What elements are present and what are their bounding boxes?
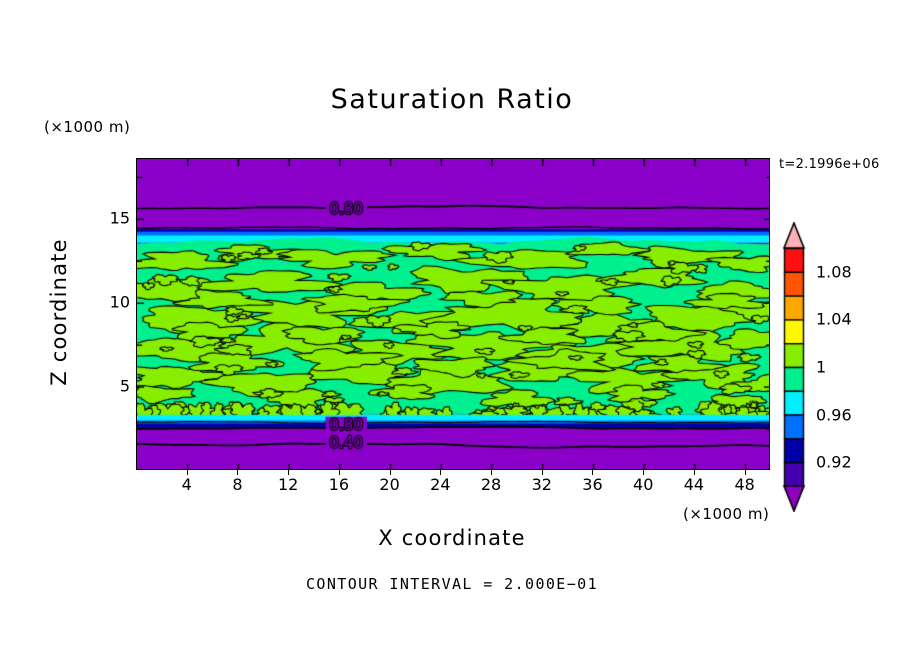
x-tick-mark xyxy=(745,468,746,475)
x-tick-mark xyxy=(491,468,492,475)
y-axis-title: Z coordinate xyxy=(47,232,71,392)
x-tick-mark xyxy=(390,468,391,475)
colorbar-canvas xyxy=(778,222,810,512)
y-tick-label: 5 xyxy=(120,377,130,396)
x-tick-mark xyxy=(187,468,188,475)
x-tick-mark xyxy=(339,468,340,475)
x-tick-label: 8 xyxy=(232,475,242,494)
x-tick-label: 12 xyxy=(278,475,298,494)
y-axis-tick-labels: 51015 xyxy=(70,158,130,470)
x-tick-label: 4 xyxy=(182,475,192,494)
colorbar-tick-labels: 1.081.0410.960.92 xyxy=(816,222,896,512)
y-axis-unit-label: (×1000 m) xyxy=(44,118,130,136)
contour-field-canvas xyxy=(137,159,770,470)
colorbar-tick-label: 1 xyxy=(816,358,826,377)
time-stamp-label: t=2.1996e+06 xyxy=(779,157,880,172)
x-tick-label: 32 xyxy=(532,475,552,494)
y-tick-label: 10 xyxy=(110,293,130,312)
x-tick-label: 48 xyxy=(734,475,754,494)
x-tick-mark xyxy=(288,468,289,475)
page-title: Saturation Ratio xyxy=(0,84,904,115)
x-axis-unit-label: (×1000 m) xyxy=(683,505,769,523)
x-tick-mark xyxy=(542,468,543,475)
x-tick-label: 44 xyxy=(684,475,704,494)
x-tick-label: 36 xyxy=(582,475,602,494)
x-tick-mark xyxy=(592,468,593,475)
x-tick-label: 40 xyxy=(633,475,653,494)
x-tick-label: 24 xyxy=(430,475,450,494)
contour-plot-area xyxy=(136,158,770,470)
x-tick-label: 20 xyxy=(379,475,399,494)
x-tick-mark xyxy=(237,468,238,475)
x-tick-mark xyxy=(643,468,644,475)
x-axis-tick-labels: 4812162024283236404448 xyxy=(136,475,770,499)
colorbar-tick-label: 0.92 xyxy=(816,453,852,472)
colorbar-tick-label: 0.96 xyxy=(816,405,852,424)
x-tick-mark xyxy=(694,468,695,475)
x-tick-label: 16 xyxy=(329,475,349,494)
y-tick-label: 15 xyxy=(110,209,130,228)
colorbar-tick-label: 1.08 xyxy=(816,262,852,281)
colorbar xyxy=(778,222,810,512)
colorbar-tick-label: 1.04 xyxy=(816,310,852,329)
x-tick-mark xyxy=(440,468,441,475)
x-tick-label: 28 xyxy=(481,475,501,494)
x-axis-title: X coordinate xyxy=(0,526,904,550)
contour-interval-caption: CONTOUR INTERVAL = 2.000E−01 xyxy=(0,575,904,593)
